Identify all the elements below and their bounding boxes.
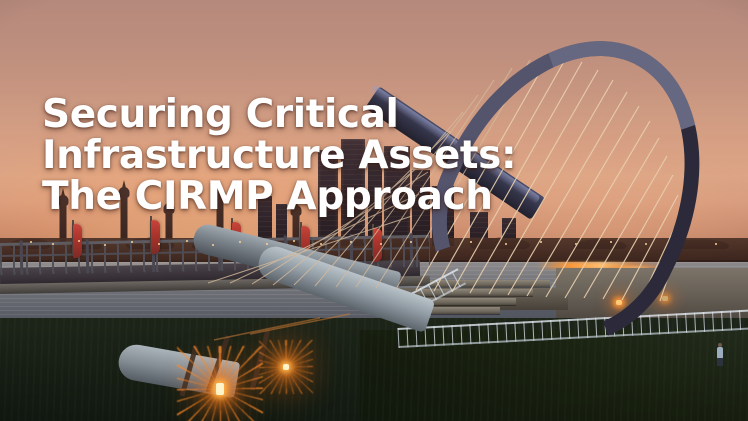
railing-post (86, 239, 90, 273)
flag (373, 228, 382, 263)
ground-light-secondary (285, 366, 287, 368)
flag (73, 224, 82, 259)
title-line-1: Securing Critical (42, 94, 562, 135)
flag (151, 220, 160, 255)
page-title: Securing Critical Infrastructure Assets:… (42, 94, 562, 217)
ground-light-main (219, 388, 221, 390)
pedestrian-legs (717, 358, 723, 366)
title-banner: Securing Critical Infrastructure Assets:… (0, 0, 748, 421)
title-line-2: Infrastructure Assets: (42, 135, 562, 176)
railing-post (20, 241, 24, 275)
title-line-3: The CIRMP Approach (42, 176, 562, 217)
